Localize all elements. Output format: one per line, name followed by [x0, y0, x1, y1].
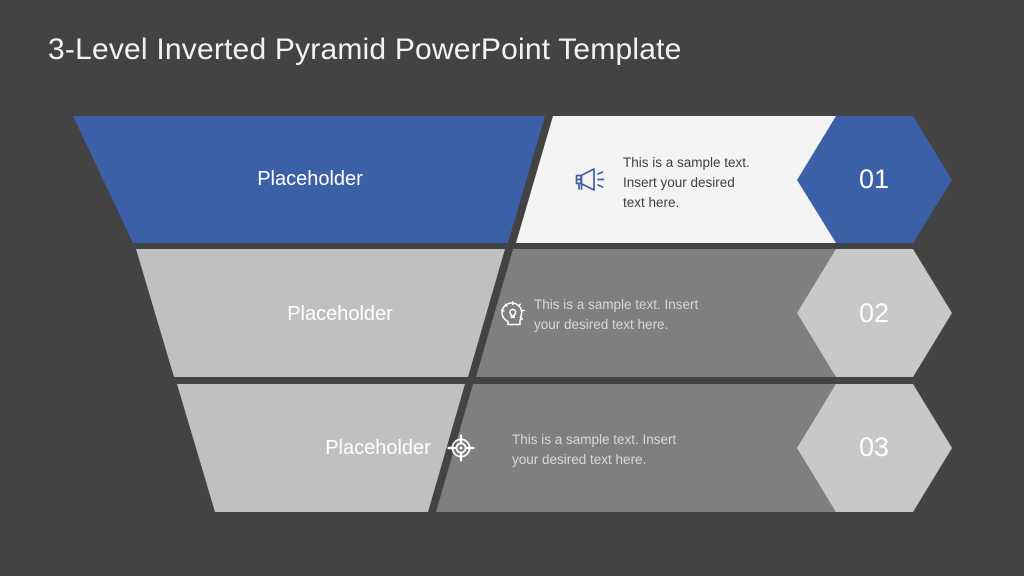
level-3-placeholder-label[interactable]: Placeholder	[228, 437, 528, 460]
slide-canvas: 3-Level Inverted Pyramid PowerPoint Temp…	[0, 0, 1024, 576]
inverted-pyramid-diagram	[0, 0, 1024, 576]
level-2-body-text[interactable]: This is a sample text. Insert your desir…	[534, 295, 744, 335]
target-crosshair-icon	[444, 431, 478, 465]
level-1-placeholder-label[interactable]: Placeholder	[160, 168, 460, 191]
head-lightbulb-icon	[496, 297, 530, 331]
level-2-placeholder-label[interactable]: Placeholder	[190, 303, 490, 326]
level-3-body-text[interactable]: This is a sample text. Insert your desir…	[512, 430, 722, 470]
level-2-number-badge: 02	[838, 298, 910, 329]
level-1-number-badge: 01	[838, 164, 910, 195]
megaphone-icon	[572, 163, 608, 197]
level-1-body-text[interactable]: This is a sample text. Insert your desir…	[623, 153, 813, 213]
level-3-number-badge: 03	[838, 432, 910, 463]
